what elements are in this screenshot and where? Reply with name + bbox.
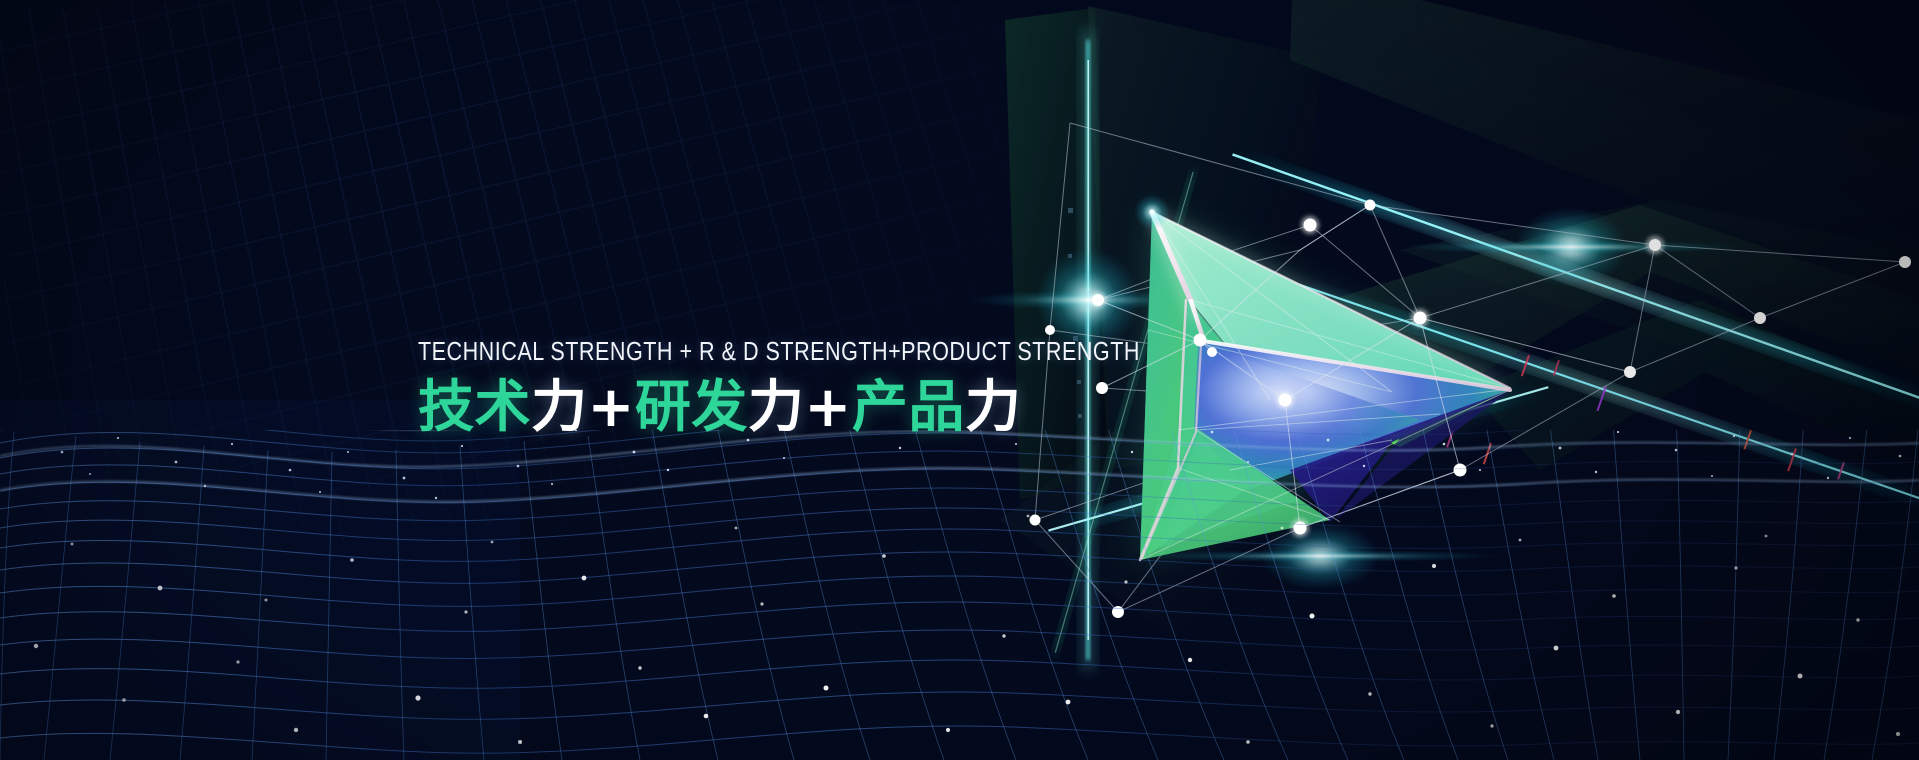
headline-segment-yanfa: 研发 xyxy=(635,375,748,440)
geometric-panels xyxy=(1000,0,1919,640)
headline-plus-1: + xyxy=(588,375,635,440)
headline-plus-2: + xyxy=(804,375,851,440)
headline-segment-li-2: 力 xyxy=(748,375,805,440)
prism-tip-glow xyxy=(1134,194,1170,230)
english-tagline: TECHNICAL STRENGTH + R & D STRENGTH+PROD… xyxy=(418,340,1140,366)
headline-segment-chanpin: 产品 xyxy=(852,375,965,440)
headline-segment-jishu: 技术 xyxy=(418,375,531,440)
hero-banner: TECHNICAL STRENGTH + R & D STRENGTH+PROD… xyxy=(0,0,1919,760)
chinese-headline: 技术力+研发力+产品力 xyxy=(418,379,1272,437)
headline-copy-block: TECHNICAL STRENGTH + R & D STRENGTH+PROD… xyxy=(418,340,1272,436)
headline-segment-li-1: 力 xyxy=(531,375,588,440)
headline-segment-li-3: 力 xyxy=(965,375,1022,440)
